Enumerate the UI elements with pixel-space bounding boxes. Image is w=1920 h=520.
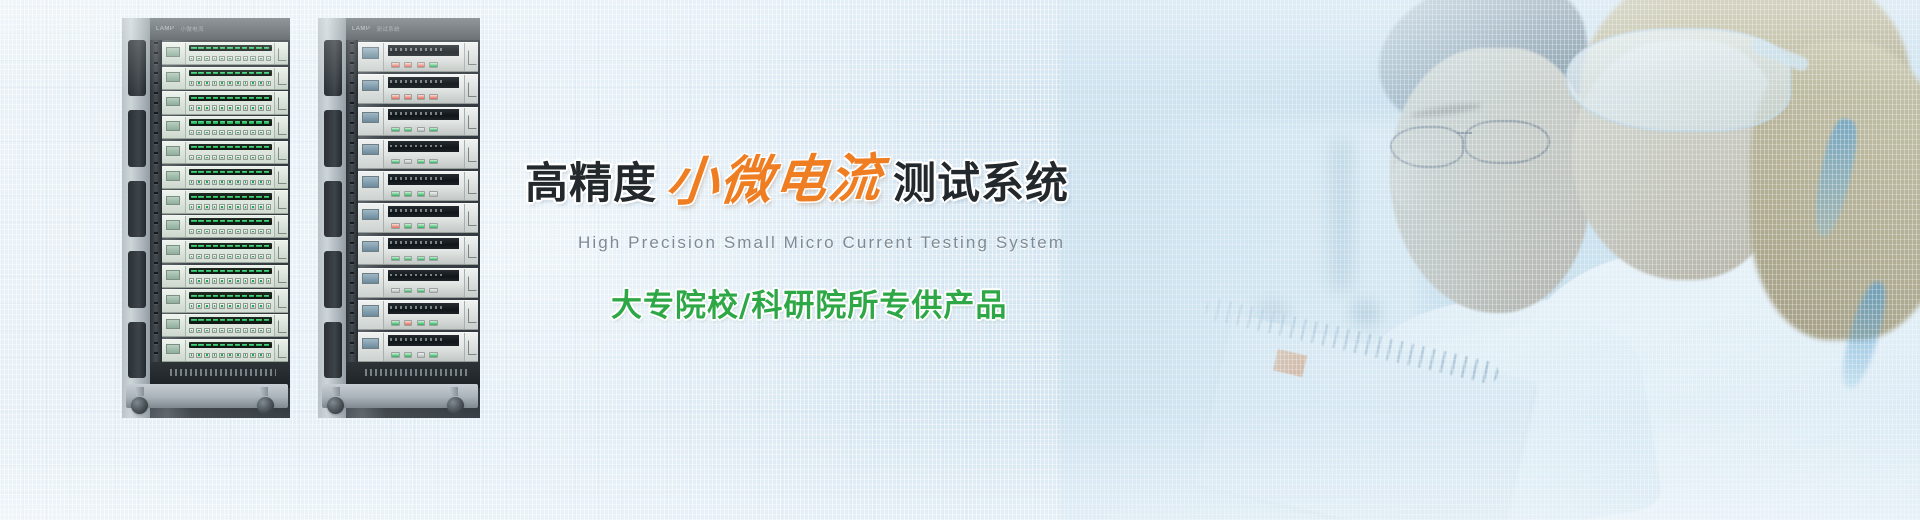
channel-button[interactable] xyxy=(227,204,233,209)
channel-button[interactable] xyxy=(243,254,249,259)
module-right-connector xyxy=(274,117,288,138)
channel-button[interactable] xyxy=(212,56,218,61)
status-led xyxy=(404,288,413,294)
channel-button[interactable] xyxy=(227,105,233,110)
rack-side-post xyxy=(318,18,348,418)
channel-led xyxy=(213,220,218,222)
channel-led xyxy=(198,72,203,74)
rack-side-slot xyxy=(324,322,342,378)
channel-button[interactable] xyxy=(243,155,249,160)
channel-button[interactable] xyxy=(189,180,195,185)
channel-button[interactable] xyxy=(243,303,249,308)
channel-button[interactable] xyxy=(196,81,202,86)
channel-led xyxy=(220,344,225,346)
channel-button[interactable] xyxy=(258,56,264,61)
channel-button[interactable] xyxy=(219,130,225,135)
channel-button[interactable] xyxy=(235,81,241,86)
channel-button[interactable] xyxy=(204,254,210,259)
module-channel-buttons[interactable] xyxy=(186,352,274,359)
channel-button[interactable] xyxy=(196,56,202,61)
channel-led xyxy=(242,319,247,321)
channel-button[interactable] xyxy=(266,56,272,61)
channel-button[interactable] xyxy=(219,229,225,234)
module-channel-buttons[interactable] xyxy=(186,104,274,111)
module-channel-buttons[interactable] xyxy=(186,253,274,260)
channel-led xyxy=(264,270,269,272)
channel-button[interactable] xyxy=(235,328,241,333)
module-display xyxy=(166,319,180,329)
channel-button[interactable] xyxy=(212,180,218,185)
instrument-status-leds xyxy=(384,125,463,134)
instrument-right-connector xyxy=(464,75,478,103)
channel-button[interactable] xyxy=(227,328,233,333)
channel-led xyxy=(213,97,218,99)
channel-button[interactable] xyxy=(258,254,264,259)
channel-button[interactable] xyxy=(250,353,256,358)
channel-led xyxy=(235,270,240,272)
channel-button[interactable] xyxy=(227,303,233,308)
channel-led xyxy=(198,295,203,297)
channel-led xyxy=(249,295,254,297)
channel-button[interactable] xyxy=(250,328,256,333)
channel-led xyxy=(220,97,225,99)
instrument-readout-window xyxy=(388,303,459,314)
channel-button[interactable] xyxy=(189,204,195,209)
channel-button[interactable] xyxy=(258,130,264,135)
channel-button[interactable] xyxy=(189,353,195,358)
channel-button[interactable] xyxy=(258,353,264,358)
channel-button[interactable] xyxy=(266,105,272,110)
channel-button[interactable] xyxy=(196,180,202,185)
instrument-status-leds xyxy=(384,93,463,102)
instrument-status-leds xyxy=(384,286,463,295)
channel-button[interactable] xyxy=(235,254,241,259)
rack-side-slots xyxy=(324,40,342,378)
channel-button[interactable] xyxy=(250,303,256,308)
channel-led xyxy=(198,270,203,272)
channel-led xyxy=(198,171,203,173)
module-right-connector xyxy=(274,142,288,163)
channel-button[interactable] xyxy=(266,328,272,333)
rack-module xyxy=(162,240,288,263)
channel-button[interactable] xyxy=(227,180,233,185)
module-center-panel xyxy=(186,92,274,113)
lab-researchers-photo xyxy=(1060,0,1920,520)
module-led-strip xyxy=(189,193,272,199)
channel-led xyxy=(198,146,203,148)
channel-button[interactable] xyxy=(212,204,218,209)
channel-button[interactable] xyxy=(219,81,225,86)
instrument-center-panel xyxy=(384,140,463,168)
module-channel-buttons[interactable] xyxy=(186,154,274,161)
channel-button[interactable] xyxy=(243,130,249,135)
module-display xyxy=(166,121,180,131)
module-led-strip xyxy=(189,70,272,76)
channel-button[interactable] xyxy=(250,180,256,185)
channel-button[interactable] xyxy=(258,328,264,333)
rack-rail-holes xyxy=(154,42,158,360)
status-led xyxy=(391,191,400,197)
channel-led xyxy=(213,146,218,148)
channel-button[interactable] xyxy=(196,353,202,358)
channel-led xyxy=(256,47,261,49)
module-right-connector xyxy=(274,216,288,237)
tagline: 大专院校/科研院所专供产品 xyxy=(611,280,1045,325)
channel-led xyxy=(227,146,232,148)
channel-button[interactable] xyxy=(219,155,225,160)
channel-button[interactable] xyxy=(235,155,241,160)
status-led xyxy=(404,223,413,229)
rack-module xyxy=(162,166,288,189)
channel-button[interactable] xyxy=(189,278,195,283)
channel-led xyxy=(242,146,247,148)
channel-button[interactable] xyxy=(204,353,210,358)
channel-button[interactable] xyxy=(189,81,195,86)
headline-suffix: 测试系统 xyxy=(893,149,1069,211)
instrument-left-panel xyxy=(358,204,384,232)
channel-led xyxy=(191,97,196,99)
channel-button[interactable] xyxy=(196,328,202,333)
module-led-strip xyxy=(189,292,272,298)
instrument-status-leds xyxy=(384,318,463,327)
module-display xyxy=(166,245,180,255)
status-led xyxy=(391,223,400,229)
channel-button[interactable] xyxy=(258,229,264,234)
channel-led xyxy=(191,146,196,148)
channel-button[interactable] xyxy=(250,254,256,259)
channel-button[interactable] xyxy=(189,229,195,234)
channel-button[interactable] xyxy=(266,204,272,209)
rack-instrument xyxy=(358,300,478,330)
channel-button[interactable] xyxy=(266,254,272,259)
channel-button[interactable] xyxy=(204,130,210,135)
channel-button[interactable] xyxy=(212,303,218,308)
instrument-left-panel xyxy=(358,301,384,329)
module-left-panel xyxy=(162,167,186,188)
module-right-connector xyxy=(274,92,288,113)
channel-button[interactable] xyxy=(243,105,249,110)
channel-button[interactable] xyxy=(235,56,241,61)
status-led xyxy=(417,256,426,262)
channel-button[interactable] xyxy=(258,81,264,86)
instrument-display xyxy=(362,112,379,123)
instrument-display xyxy=(362,305,379,316)
channel-led xyxy=(264,220,269,222)
status-led xyxy=(429,159,438,165)
channel-led xyxy=(227,319,232,321)
channel-button[interactable] xyxy=(250,105,256,110)
channel-button[interactable] xyxy=(258,180,264,185)
channel-button[interactable] xyxy=(227,254,233,259)
channel-button[interactable] xyxy=(219,105,225,110)
status-led xyxy=(417,191,426,197)
module-channel-buttons[interactable] xyxy=(186,179,274,186)
rack-mounting-rail xyxy=(346,40,358,362)
module-left-panel xyxy=(162,340,186,361)
channel-button[interactable] xyxy=(266,229,272,234)
channel-button[interactable] xyxy=(258,278,264,283)
channel-button[interactable] xyxy=(243,328,249,333)
channel-button[interactable] xyxy=(212,105,218,110)
channel-led xyxy=(220,146,225,148)
channel-button[interactable] xyxy=(212,353,218,358)
channel-button[interactable] xyxy=(189,105,195,110)
channel-button[interactable] xyxy=(189,328,195,333)
channel-led xyxy=(249,319,254,321)
module-channel-buttons[interactable] xyxy=(186,327,274,334)
rack-brand-label: LAMP xyxy=(352,26,370,32)
channel-button[interactable] xyxy=(219,353,225,358)
module-center-panel xyxy=(186,216,274,237)
instrument-right-connector xyxy=(464,204,478,232)
channel-button[interactable] xyxy=(212,155,218,160)
channel-led xyxy=(198,344,203,346)
instrument-status-leds xyxy=(384,351,463,360)
instrument-center-panel xyxy=(384,108,463,136)
channel-led xyxy=(191,121,196,123)
module-led-strip xyxy=(189,243,272,249)
channel-button[interactable] xyxy=(204,180,210,185)
channel-button[interactable] xyxy=(227,155,233,160)
channel-button[interactable] xyxy=(235,229,241,234)
channel-button[interactable] xyxy=(219,180,225,185)
channel-led xyxy=(206,220,211,222)
channel-button[interactable] xyxy=(235,180,241,185)
channel-led xyxy=(206,344,211,346)
channel-button[interactable] xyxy=(250,229,256,234)
module-right-connector xyxy=(274,241,288,262)
module-left-panel xyxy=(162,290,186,311)
channel-button[interactable] xyxy=(189,56,195,61)
channel-led xyxy=(227,72,232,74)
channel-button[interactable] xyxy=(227,229,233,234)
channel-button[interactable] xyxy=(258,105,264,110)
rack-instrument xyxy=(358,42,478,72)
channel-button[interactable] xyxy=(212,229,218,234)
channel-button[interactable] xyxy=(235,130,241,135)
channel-led xyxy=(249,121,254,123)
channel-button[interactable] xyxy=(266,155,272,160)
status-led xyxy=(404,62,413,68)
rack-instrument xyxy=(358,236,478,266)
channel-button[interactable] xyxy=(243,56,249,61)
channel-led xyxy=(264,47,269,49)
instrument-right-connector xyxy=(464,237,478,265)
channel-button[interactable] xyxy=(258,204,264,209)
channel-button[interactable] xyxy=(266,81,272,86)
channel-led xyxy=(235,47,240,49)
instrument-right-connector xyxy=(464,172,478,200)
channel-led xyxy=(206,295,211,297)
channel-led xyxy=(242,295,247,297)
channel-button[interactable] xyxy=(196,303,202,308)
channel-led xyxy=(191,344,196,346)
caster-wheel xyxy=(131,397,148,414)
channel-button[interactable] xyxy=(204,81,210,86)
channel-button[interactable] xyxy=(212,278,218,283)
channel-button[interactable] xyxy=(250,155,256,160)
channel-button[interactable] xyxy=(219,278,225,283)
channel-led xyxy=(206,121,211,123)
instrument-readout-window xyxy=(388,270,459,281)
module-channel-buttons[interactable] xyxy=(186,228,274,235)
channel-button[interactable] xyxy=(196,278,202,283)
rack-module xyxy=(162,67,288,90)
instrument-display xyxy=(362,209,379,220)
channel-button[interactable] xyxy=(204,303,210,308)
channel-button[interactable] xyxy=(219,56,225,61)
channel-button[interactable] xyxy=(212,328,218,333)
status-led xyxy=(417,94,426,100)
instrument-right-connector xyxy=(464,301,478,329)
channel-led xyxy=(206,171,211,173)
channel-button[interactable] xyxy=(243,229,249,234)
channel-button[interactable] xyxy=(227,81,233,86)
channel-button[interactable] xyxy=(227,56,233,61)
module-channel-buttons[interactable] xyxy=(186,203,274,210)
channel-button[interactable] xyxy=(227,353,233,358)
module-display xyxy=(166,97,180,107)
channel-button[interactable] xyxy=(204,328,210,333)
channel-button[interactable] xyxy=(227,130,233,135)
channel-button[interactable] xyxy=(212,254,218,259)
channel-button[interactable] xyxy=(250,204,256,209)
channel-button[interactable] xyxy=(243,204,249,209)
status-led xyxy=(429,320,438,326)
channel-led xyxy=(249,47,254,49)
channel-button[interactable] xyxy=(204,278,210,283)
caster-stem xyxy=(136,387,144,396)
channel-led xyxy=(206,270,211,272)
channel-led xyxy=(220,121,225,123)
channel-button[interactable] xyxy=(243,180,249,185)
module-display xyxy=(166,171,180,181)
channel-button[interactable] xyxy=(196,254,202,259)
status-led xyxy=(429,288,438,294)
rack-vent-grille xyxy=(365,369,467,376)
channel-led xyxy=(206,146,211,148)
status-led xyxy=(417,159,426,165)
module-channel-buttons[interactable] xyxy=(186,129,274,136)
module-channel-buttons[interactable] xyxy=(186,302,274,309)
channel-button[interactable] xyxy=(189,155,195,160)
module-center-panel xyxy=(186,290,274,311)
channel-led xyxy=(198,220,203,222)
channel-button[interactable] xyxy=(227,278,233,283)
channel-button[interactable] xyxy=(196,229,202,234)
channel-led xyxy=(264,196,269,198)
channel-led xyxy=(227,47,232,49)
channel-button[interactable] xyxy=(219,254,225,259)
channel-button[interactable] xyxy=(212,130,218,135)
channel-button[interactable] xyxy=(266,180,272,185)
channel-button[interactable] xyxy=(196,155,202,160)
module-left-panel xyxy=(162,92,186,113)
channel-button[interactable] xyxy=(235,353,241,358)
channel-led xyxy=(235,72,240,74)
channel-button[interactable] xyxy=(204,155,210,160)
channel-led xyxy=(235,97,240,99)
channel-button[interactable] xyxy=(219,328,225,333)
status-led xyxy=(391,256,400,262)
channel-button[interactable] xyxy=(204,229,210,234)
channel-button[interactable] xyxy=(266,303,272,308)
rack-side-slot xyxy=(128,322,146,378)
channel-button[interactable] xyxy=(219,204,225,209)
rack-vent-grille xyxy=(170,369,276,376)
channel-button[interactable] xyxy=(189,254,195,259)
channel-button[interactable] xyxy=(258,155,264,160)
channel-led xyxy=(256,72,261,74)
channel-button[interactable] xyxy=(250,56,256,61)
channel-button[interactable] xyxy=(266,278,272,283)
channel-button[interactable] xyxy=(219,303,225,308)
channel-button[interactable] xyxy=(189,303,195,308)
module-channel-buttons[interactable] xyxy=(186,278,274,285)
channel-led xyxy=(191,245,196,247)
channel-led xyxy=(206,47,211,49)
module-center-panel xyxy=(186,340,274,361)
channel-button[interactable] xyxy=(250,81,256,86)
channel-button[interactable] xyxy=(204,204,210,209)
instrument-left-panel xyxy=(358,43,384,71)
channel-button[interactable] xyxy=(250,278,256,283)
channel-button[interactable] xyxy=(196,204,202,209)
instrument-display xyxy=(362,176,379,187)
channel-button[interactable] xyxy=(235,204,241,209)
channel-button[interactable] xyxy=(250,130,256,135)
channel-led xyxy=(235,121,240,123)
channel-led xyxy=(227,220,232,222)
instrument-display xyxy=(362,144,379,155)
channel-button[interactable] xyxy=(235,105,241,110)
rack-header: LAMP 小微电流 xyxy=(150,18,290,40)
channel-led xyxy=(220,245,225,247)
channel-button[interactable] xyxy=(196,130,202,135)
instrument-left-panel xyxy=(358,140,384,168)
module-led-strip xyxy=(189,119,272,125)
module-channel-buttons[interactable] xyxy=(186,80,274,87)
channel-led xyxy=(191,295,196,297)
channel-button[interactable] xyxy=(266,353,272,358)
channel-button[interactable] xyxy=(212,81,218,86)
channel-led xyxy=(213,171,218,173)
channel-button[interactable] xyxy=(235,278,241,283)
module-left-panel xyxy=(162,216,186,237)
channel-button[interactable] xyxy=(204,56,210,61)
module-channel-buttons[interactable] xyxy=(186,55,274,62)
channel-button[interactable] xyxy=(235,303,241,308)
channel-led xyxy=(264,121,269,123)
channel-button[interactable] xyxy=(258,303,264,308)
channel-led xyxy=(213,344,218,346)
channel-button[interactable] xyxy=(243,353,249,358)
channel-button[interactable] xyxy=(204,105,210,110)
rack-module xyxy=(162,91,288,114)
instrument-right-connector xyxy=(464,140,478,168)
channel-led xyxy=(249,171,254,173)
channel-led xyxy=(264,72,269,74)
channel-button[interactable] xyxy=(266,130,272,135)
channel-button[interactable] xyxy=(196,105,202,110)
channel-button[interactable] xyxy=(189,130,195,135)
channel-button[interactable] xyxy=(243,81,249,86)
channel-led xyxy=(256,97,261,99)
instrument-center-panel xyxy=(384,172,463,200)
channel-button[interactable] xyxy=(243,278,249,283)
channel-led xyxy=(256,171,261,173)
channel-led xyxy=(242,220,247,222)
